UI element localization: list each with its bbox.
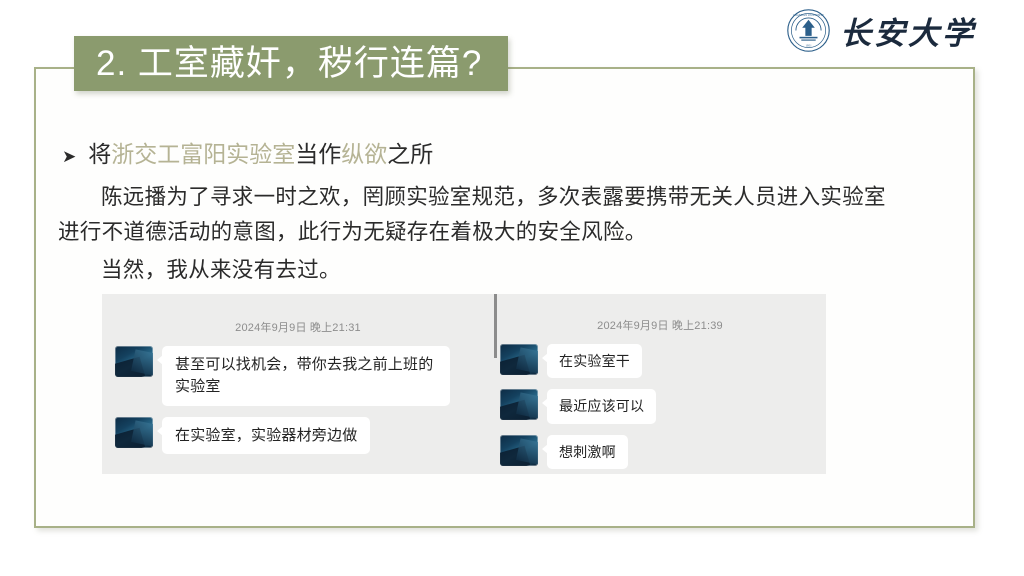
body-paragraph-1: 陈远播为了寻求一时之欢，罔顾实验室规范，多次表露要携带无关人员进入实验室进行不道… <box>58 180 898 250</box>
bullet-highlight-lab: 浙交工富阳实验室 <box>111 135 295 169</box>
chat-message-row: 在实验室，实验器材旁边做 <box>102 417 494 455</box>
chat-bubble: 甚至可以找机会，带你去我之前上班的实验室 <box>162 346 450 406</box>
university-name-text: 长安大学 <box>840 8 976 53</box>
body-paragraph-2: 当然，我从来没有去过。 <box>58 253 898 287</box>
chat-timestamp-right: 2024年9月9日 晚上21:39 <box>494 294 826 333</box>
mountain-photo-avatar <box>500 344 538 375</box>
chat-message-row: 在实验室干 <box>494 344 826 378</box>
presentation-slide: CHANG'AN UNIVERSITY 1951 长安大学 2. 工室藏奸，秽行… <box>0 0 1024 576</box>
bullet-suffix-text: 之所 <box>387 135 433 169</box>
chat-column-right: 2024年9月9日 晚上21:39 在实验室干 最近应该可以 想刺激啊 <box>494 294 826 474</box>
chat-screenshot-panel: 2024年9月9日 晚上21:31 甚至可以找机会，带你去我之前上班的实验室 在… <box>102 294 826 474</box>
chat-message-row: 想刺激啊 <box>494 435 826 469</box>
bullet-arrow-icon: ➤ <box>62 147 76 167</box>
page-title: 2. 工室藏奸，秽行连篇? <box>96 46 482 81</box>
chat-bubble: 在实验室，实验器材旁边做 <box>162 417 370 455</box>
chat-timestamp-left: 2024年9月9日 晚上21:31 <box>102 294 494 335</box>
mountain-photo-avatar <box>500 389 538 420</box>
changan-university-emblem-icon: CHANG'AN UNIVERSITY 1951 <box>786 8 831 53</box>
svg-text:CHANG'AN UNIVERSITY: CHANG'AN UNIVERSITY <box>793 14 824 17</box>
slide-title-bar: 2. 工室藏奸，秽行连篇? <box>74 36 508 91</box>
chat-bubble: 想刺激啊 <box>547 435 628 469</box>
bullet-highlight-desire: 纵欲 <box>341 135 387 169</box>
chat-bubble: 最近应该可以 <box>547 389 656 423</box>
university-logo: CHANG'AN UNIVERSITY 1951 长安大学 <box>786 8 976 53</box>
bullet-prefix-text: 将 <box>88 135 111 169</box>
chat-column-left: 2024年9月9日 晚上21:31 甚至可以找机会，带你去我之前上班的实验室 在… <box>102 294 494 474</box>
mountain-photo-avatar <box>115 417 153 448</box>
mountain-photo-avatar <box>115 346 153 377</box>
bullet-middle-text: 当作 <box>295 135 341 169</box>
mountain-photo-avatar <box>500 435 538 466</box>
chat-message-row: 甚至可以找机会，带你去我之前上班的实验室 <box>102 346 494 406</box>
chat-bubble: 在实验室干 <box>547 344 642 378</box>
svg-text:1951: 1951 <box>805 44 812 48</box>
bullet-heading: ➤ 将 浙交工富阳实验室 当作 纵欲 之所 <box>62 135 433 169</box>
chat-message-row: 最近应该可以 <box>494 389 826 423</box>
